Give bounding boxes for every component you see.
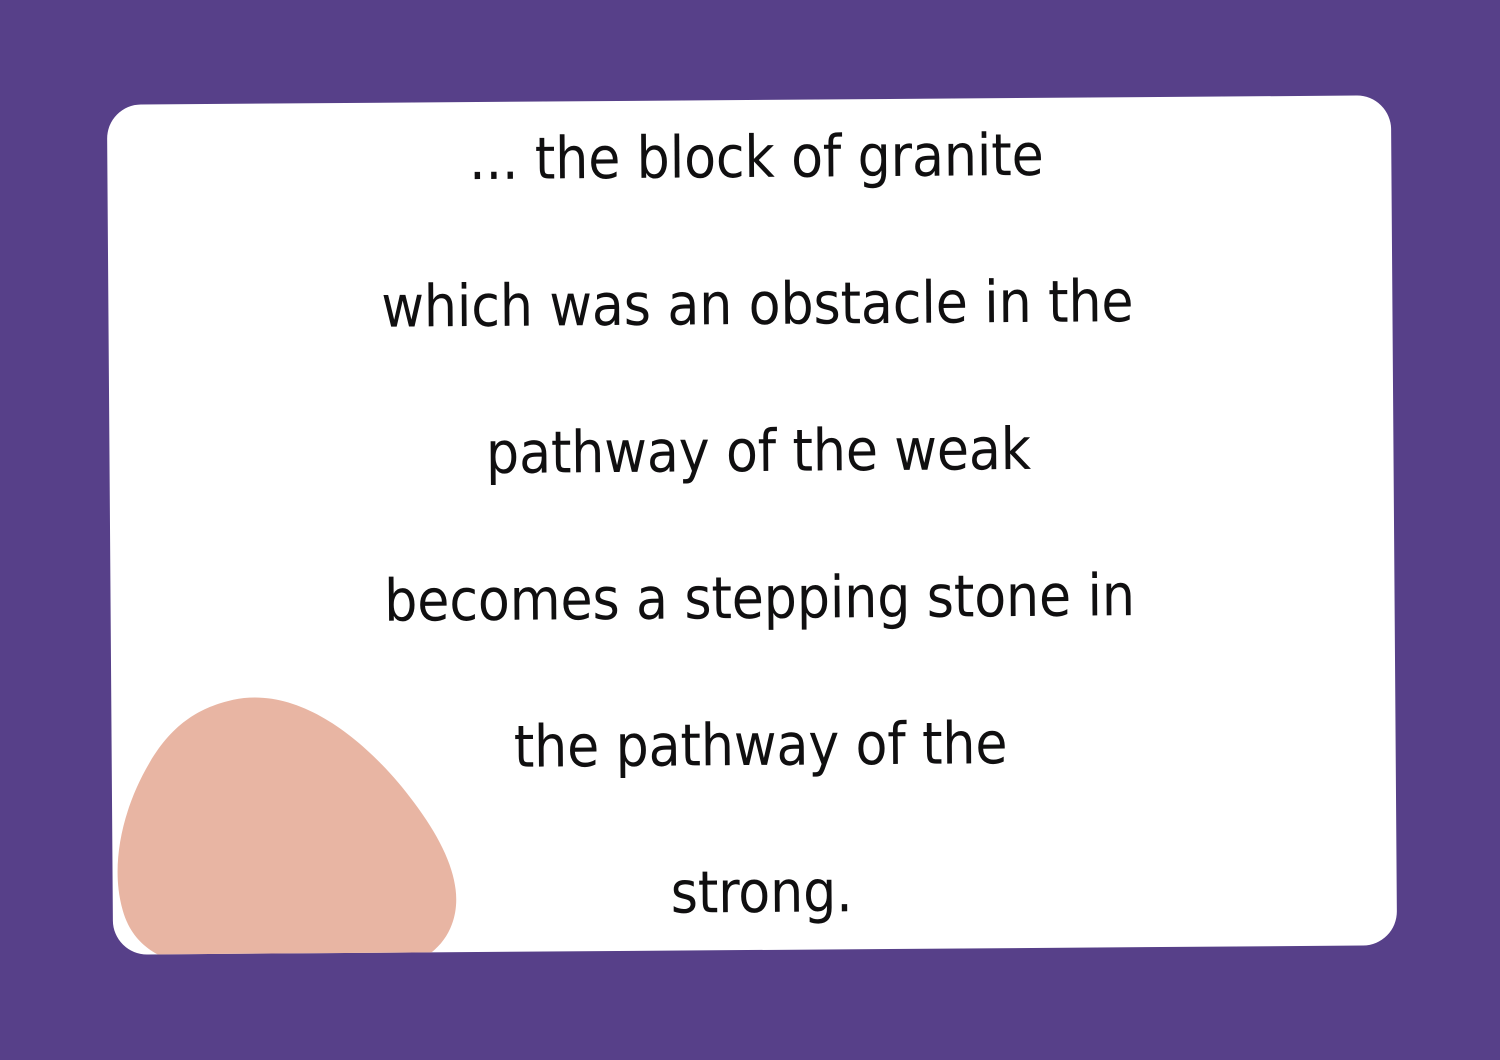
quote-line-4: becomes a stepping stone in — [164, 521, 1355, 677]
quote-line-3: pathway of the weak — [163, 374, 1354, 530]
quote-line-1: ... the block of granite — [161, 95, 1352, 235]
quote-card: ... the block of granite which was an ob… — [107, 95, 1397, 954]
quote-line-2: which was an obstacle in the — [162, 227, 1353, 383]
quote-text-block: ... the block of granite which was an ob… — [107, 95, 1397, 954]
quote-line-5: the pathway of the — [165, 668, 1356, 824]
quote-slide: ... the block of granite which was an ob… — [0, 0, 1500, 1060]
quote-line-6: strong. — [166, 815, 1357, 955]
